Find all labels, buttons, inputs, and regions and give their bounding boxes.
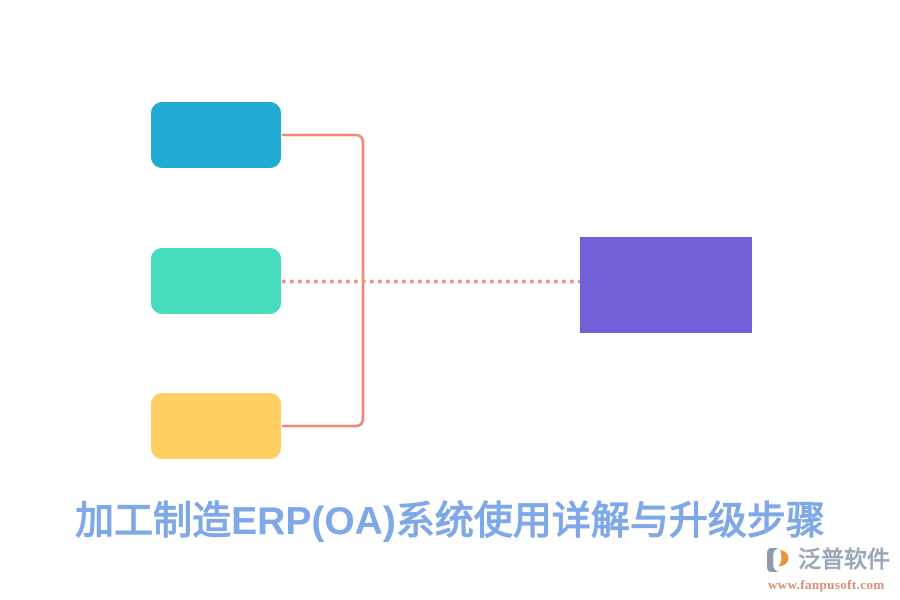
blue-connector-path (283, 135, 363, 281)
logo-url: www.fanpusoft.com (766, 577, 892, 593)
fanpu-swoosh-icon (766, 546, 796, 574)
yellow-node[interactable] (151, 393, 281, 459)
yellow-connector-path (283, 281, 363, 426)
logo-row: 泛普软件 (766, 545, 892, 575)
brand-logo: 泛普软件 www.fanpusoft.com (766, 545, 892, 593)
blue-node[interactable] (151, 102, 281, 168)
logo-wordmark: 泛普软件 (798, 549, 890, 572)
purple-node[interactable] (580, 237, 752, 333)
diagram-canvas: 加工制造ERP(OA)系统使用详解与升级步骤 泛普软件 www.fanpusof… (0, 0, 900, 600)
diagram-title: 加工制造ERP(OA)系统使用详解与升级步骤 (0, 490, 900, 546)
green-node[interactable] (151, 248, 281, 314)
